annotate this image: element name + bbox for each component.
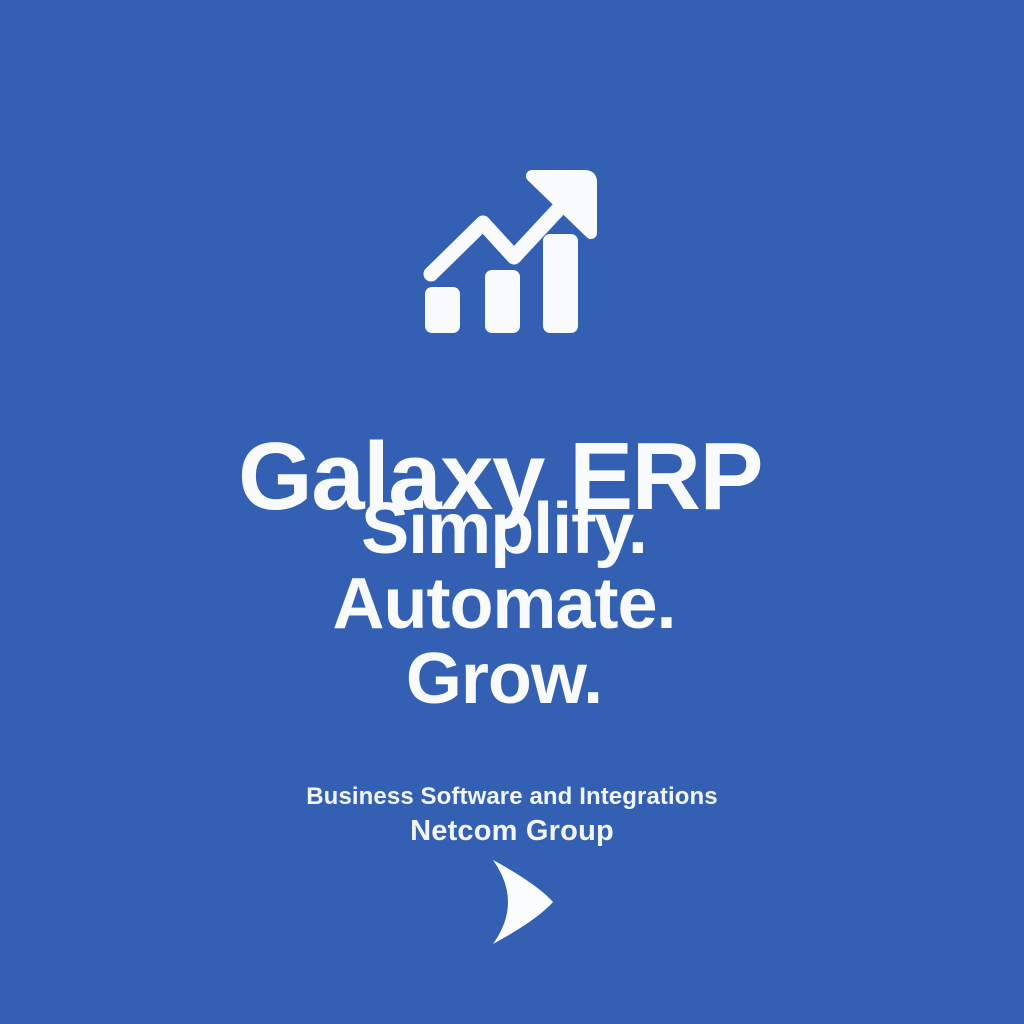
promo-card: Galaxy ERP Simplify. Automate. Grow. Bus…: [0, 0, 1024, 1024]
growth-bar-chart-arrow-icon: [423, 164, 601, 350]
tagline-line-1: Simplify.: [0, 492, 1024, 567]
footer-company-name: Netcom Group: [0, 814, 1024, 848]
footer-descriptor: Business Software and Integrations: [0, 783, 1024, 811]
brand-mark: [0, 162, 1024, 352]
tagline-line-2: Automate.: [0, 567, 1024, 642]
play-arrow-swoosh-icon: [465, 856, 559, 948]
tagline-line-3: Grow.: [0, 642, 1024, 717]
tagline: Simplify. Automate. Grow.: [0, 492, 1024, 717]
footer-lockup: Business Software and Integrations Netco…: [0, 783, 1024, 849]
swoosh-arrow: [0, 856, 1024, 952]
